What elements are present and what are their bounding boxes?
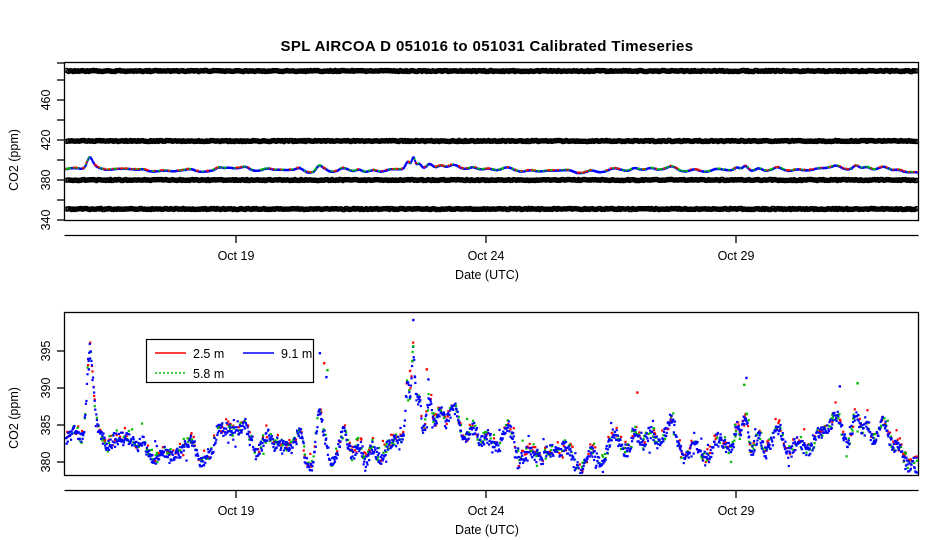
legend-label-9-1m: 9.1 m: [281, 347, 312, 361]
bottom-xtick-label-oct29: Oct 29: [718, 504, 755, 518]
calibration-band-0: [65, 68, 919, 73]
legend-label-5-8m: 5.8 m: [193, 367, 224, 381]
calibration-band-1: [65, 138, 919, 143]
bottom-ytick-label-395: 395: [39, 341, 53, 362]
top-ytick-label-340: 340: [39, 210, 53, 231]
figure-canvas: SPL AIRCOA D 051016 to 051031 Calibrated…: [0, 0, 936, 540]
top-xtick-label-oct24: Oct 24: [468, 249, 505, 263]
top-panel-ylabel: CO2 (ppm): [7, 129, 21, 191]
top-panel-xlabel: Date (UTC): [455, 268, 519, 282]
bottom-panel-xlabel: Date (UTC): [455, 523, 519, 537]
timeseries-figure: SPL AIRCOA D 051016 to 051031 Calibrated…: [0, 0, 936, 540]
bottom-ytick-label-390: 390: [39, 378, 53, 399]
legend-label-2-5m: 2.5 m: [193, 347, 224, 361]
figure-title: SPL AIRCOA D 051016 to 051031 Calibrated…: [280, 38, 693, 55]
bottom-panel-ylabel: CO2 (ppm): [7, 387, 21, 449]
bottom-xtick-label-oct24: Oct 24: [468, 504, 505, 518]
bottom-ytick-label-380: 380: [39, 452, 53, 473]
legend-box: [147, 340, 314, 383]
bottom-xtick-label-oct19: Oct 19: [218, 504, 255, 518]
top-ytick-label-380: 380: [39, 170, 53, 191]
legend: 2.5 m 5.8 m 9.1 m: [147, 340, 314, 383]
top-xtick-label-oct19: Oct 19: [218, 249, 255, 263]
top-ytick-label-420: 420: [39, 130, 53, 151]
bottom-ytick-label-385: 385: [39, 415, 53, 436]
top-ytick-label-460: 460: [39, 90, 53, 111]
calibration-band-2: [65, 177, 919, 182]
calibration-band-3: [65, 206, 919, 211]
top-xtick-label-oct29: Oct 29: [718, 249, 755, 263]
